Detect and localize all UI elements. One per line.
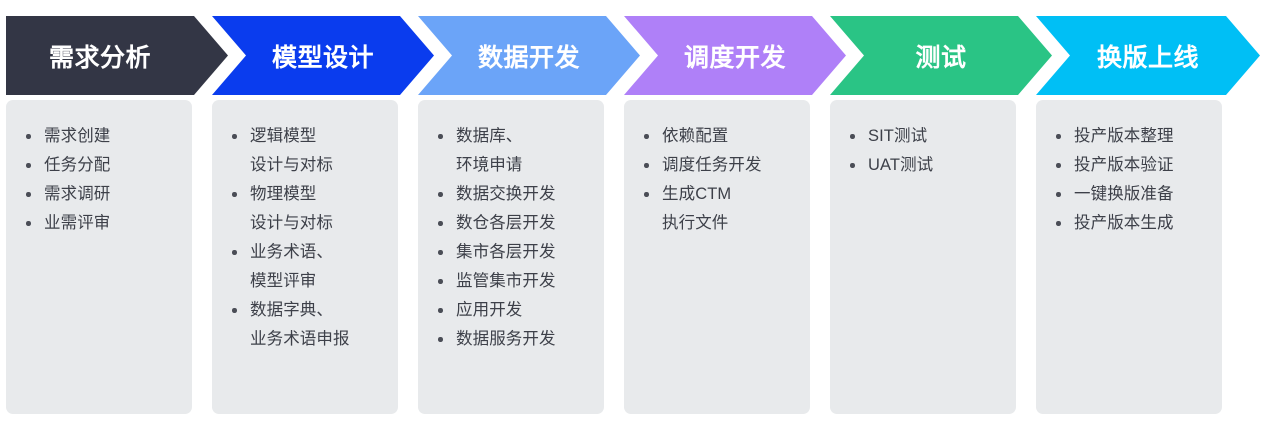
step-content-panel: 依赖配置调度任务开发生成CTM执行文件 bbox=[624, 100, 810, 414]
step-content-panel: 投产版本整理投产版本验证一键换版准备投产版本生成 bbox=[1036, 100, 1222, 414]
task-list-item[interactable]: 调度任务开发 bbox=[642, 151, 804, 180]
task-list-item[interactable]: 需求创建 bbox=[24, 122, 186, 151]
task-label-line: 数仓各层开发 bbox=[456, 214, 556, 232]
task-list-item[interactable]: 投产版本验证 bbox=[1054, 151, 1216, 180]
bullet-dot-icon bbox=[1056, 163, 1061, 168]
task-label-line: 投产版本生成 bbox=[1074, 214, 1174, 232]
bullet-dot-icon bbox=[438, 250, 443, 255]
task-list-item[interactable]: 数仓各层开发 bbox=[436, 209, 598, 238]
task-label-line: 监管集市开发 bbox=[456, 272, 556, 290]
task-list-item[interactable]: 物理模型设计与对标 bbox=[230, 180, 392, 238]
bullet-dot-icon bbox=[1056, 192, 1061, 197]
task-label-line: 一键换版准备 bbox=[1074, 185, 1174, 203]
task-list-item[interactable]: UAT测试 bbox=[848, 151, 1010, 180]
task-list-item[interactable]: SIT测试 bbox=[848, 122, 1010, 151]
task-list-item[interactable]: 投产版本生成 bbox=[1054, 209, 1216, 238]
task-list-item[interactable]: 需求调研 bbox=[24, 180, 186, 209]
step-header-chevron-3[interactable]: 数据开发 bbox=[418, 16, 640, 95]
task-list-item[interactable]: 数据库、环境申请 bbox=[436, 122, 598, 180]
bullet-dot-icon bbox=[26, 163, 31, 168]
task-label-line: 调度任务开发 bbox=[662, 156, 762, 174]
bullet-dot-icon bbox=[644, 134, 649, 139]
bullet-dot-icon bbox=[1056, 221, 1061, 226]
bullet-dot-icon bbox=[438, 337, 443, 342]
task-list-item[interactable]: 数据字典、业务术语申报 bbox=[230, 296, 392, 354]
step-task-list: 投产版本整理投产版本验证一键换版准备投产版本生成 bbox=[1036, 100, 1222, 238]
chevron-shape-icon bbox=[830, 16, 1052, 95]
step-content-panel: SIT测试UAT测试 bbox=[830, 100, 1016, 414]
task-label-line: 设计与对标 bbox=[250, 209, 392, 238]
task-list-item[interactable]: 逻辑模型设计与对标 bbox=[230, 122, 392, 180]
task-label-line: 需求创建 bbox=[44, 127, 110, 145]
step-task-list: 逻辑模型设计与对标物理模型设计与对标业务术语、模型评审数据字典、业务术语申报 bbox=[212, 100, 398, 354]
process-flow-diagram: 需求创建任务分配需求调研业需评审需求分析逻辑模型设计与对标物理模型设计与对标业务… bbox=[0, 0, 1266, 434]
bullet-dot-icon bbox=[850, 163, 855, 168]
task-label-line: 集市各层开发 bbox=[456, 243, 556, 261]
bullet-dot-icon bbox=[438, 308, 443, 313]
task-label-line: UAT测试 bbox=[868, 156, 933, 174]
step-content-panel: 需求创建任务分配需求调研业需评审 bbox=[6, 100, 192, 414]
task-list-item[interactable]: 应用开发 bbox=[436, 296, 598, 325]
task-list-item[interactable]: 监管集市开发 bbox=[436, 267, 598, 296]
step-header-chevron-4[interactable]: 调度开发 bbox=[624, 16, 846, 95]
task-list-item[interactable]: 集市各层开发 bbox=[436, 238, 598, 267]
bullet-dot-icon bbox=[1056, 134, 1061, 139]
step-task-list: SIT测试UAT测试 bbox=[830, 100, 1016, 180]
task-list-item[interactable]: 生成CTM执行文件 bbox=[642, 180, 804, 238]
task-label-line: 执行文件 bbox=[662, 209, 804, 238]
task-label-line: 依赖配置 bbox=[662, 127, 728, 145]
task-label-line: 投产版本验证 bbox=[1074, 156, 1174, 174]
task-label-line: 生成CTM bbox=[662, 185, 731, 203]
chevron-shape-icon bbox=[624, 16, 846, 95]
task-list-item[interactable]: 数据交换开发 bbox=[436, 180, 598, 209]
chevron-shape-icon bbox=[418, 16, 640, 95]
bullet-dot-icon bbox=[438, 279, 443, 284]
task-list-item[interactable]: 依赖配置 bbox=[642, 122, 804, 151]
bullet-dot-icon bbox=[438, 134, 443, 139]
task-label-line: 物理模型 bbox=[250, 185, 316, 203]
task-label-line: 数据交换开发 bbox=[456, 185, 556, 203]
task-label-line: SIT测试 bbox=[868, 127, 927, 145]
bullet-dot-icon bbox=[850, 134, 855, 139]
task-label-line: 环境申请 bbox=[456, 151, 598, 180]
bullet-dot-icon bbox=[438, 192, 443, 197]
task-list-item[interactable]: 数据服务开发 bbox=[436, 325, 598, 354]
chevron-shape-icon bbox=[6, 16, 228, 95]
task-label-line: 模型评审 bbox=[250, 267, 392, 296]
step-task-list: 需求创建任务分配需求调研业需评审 bbox=[6, 100, 192, 238]
task-label-line: 业需评审 bbox=[44, 214, 110, 232]
task-label-line: 应用开发 bbox=[456, 301, 522, 319]
task-label-line: 任务分配 bbox=[44, 156, 110, 174]
bullet-dot-icon bbox=[26, 221, 31, 226]
task-label-line: 数据服务开发 bbox=[456, 330, 556, 348]
task-label-line: 业务术语申报 bbox=[250, 325, 392, 354]
bullet-dot-icon bbox=[26, 134, 31, 139]
bullet-dot-icon bbox=[644, 192, 649, 197]
task-label-line: 逻辑模型 bbox=[250, 127, 316, 145]
bullet-dot-icon bbox=[232, 250, 237, 255]
bullet-dot-icon bbox=[232, 134, 237, 139]
bullet-dot-icon bbox=[26, 192, 31, 197]
bullet-dot-icon bbox=[644, 163, 649, 168]
task-label-line: 设计与对标 bbox=[250, 151, 392, 180]
bullet-dot-icon bbox=[232, 192, 237, 197]
step-header-chevron-1[interactable]: 需求分析 bbox=[6, 16, 228, 95]
chevron-shape-icon bbox=[1036, 16, 1260, 95]
task-list-item[interactable]: 业需评审 bbox=[24, 209, 186, 238]
task-list-item[interactable]: 任务分配 bbox=[24, 151, 186, 180]
step-task-list: 依赖配置调度任务开发生成CTM执行文件 bbox=[624, 100, 810, 238]
bullet-dot-icon bbox=[232, 308, 237, 313]
task-label-line: 投产版本整理 bbox=[1074, 127, 1174, 145]
task-list-item[interactable]: 业务术语、模型评审 bbox=[230, 238, 392, 296]
task-label-line: 数据库、 bbox=[456, 127, 522, 145]
step-content-panel: 数据库、环境申请数据交换开发数仓各层开发集市各层开发监管集市开发应用开发数据服务… bbox=[418, 100, 604, 414]
step-header-chevron-6[interactable]: 换版上线 bbox=[1036, 16, 1260, 95]
step-header-chevron-2[interactable]: 模型设计 bbox=[212, 16, 434, 95]
task-label-line: 数据字典、 bbox=[250, 301, 333, 319]
task-list-item[interactable]: 一键换版准备 bbox=[1054, 180, 1216, 209]
chevron-shape-icon bbox=[212, 16, 434, 95]
task-list-item[interactable]: 投产版本整理 bbox=[1054, 122, 1216, 151]
step-task-list: 数据库、环境申请数据交换开发数仓各层开发集市各层开发监管集市开发应用开发数据服务… bbox=[418, 100, 604, 354]
task-label-line: 业务术语、 bbox=[250, 243, 333, 261]
step-header-chevron-5[interactable]: 测试 bbox=[830, 16, 1052, 95]
task-label-line: 需求调研 bbox=[44, 185, 110, 203]
bullet-dot-icon bbox=[438, 221, 443, 226]
step-content-panel: 逻辑模型设计与对标物理模型设计与对标业务术语、模型评审数据字典、业务术语申报 bbox=[212, 100, 398, 414]
